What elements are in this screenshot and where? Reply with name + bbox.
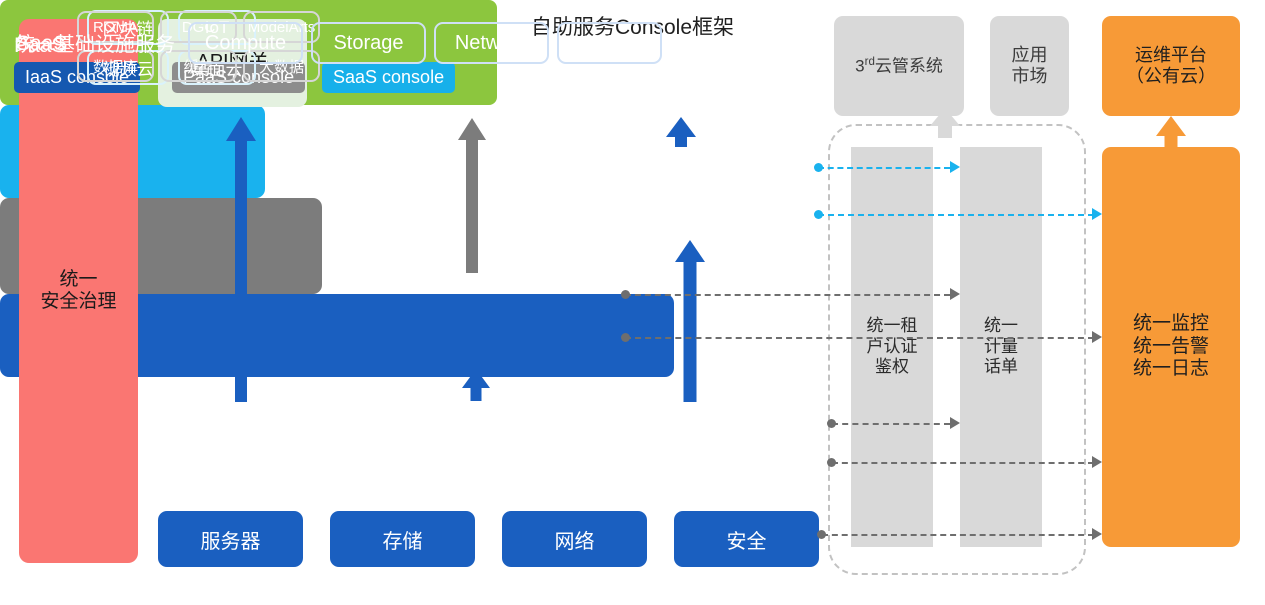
resource-box-server: 服务器 <box>158 511 303 567</box>
dashed-cap-resources <box>817 530 826 539</box>
dashed-cap-saas-2 <box>814 210 823 219</box>
ops-platform-public-cloud-box: 运维平台 （公有云） <box>1102 16 1240 116</box>
dashed-cap-infra-1 <box>827 419 836 428</box>
arrow-paas-to-console <box>458 118 486 273</box>
unified-security-governance-panel: 统一 安全治理 <box>19 19 138 563</box>
unified-tenant-auth-column: 统一租 户认证 鉴权 <box>851 147 933 547</box>
arrow-ops-panel-to-ops-platform <box>1156 116 1186 149</box>
saas-console-chip[interactable]: SaaS console <box>322 62 455 93</box>
resource-box-storage: 存储 <box>330 511 475 567</box>
dashed-arrowhead-paas-2 <box>1092 331 1105 343</box>
third-party-suffix: 云管系统 <box>875 56 943 75</box>
arrow-infra-to-api-gateway <box>226 117 256 402</box>
arrow-saas-to-console <box>666 117 696 147</box>
dashed-saas-to-auth <box>818 167 950 169</box>
dashed-resources-to-ops <box>822 534 1094 536</box>
third-party-prefix: 3 <box>855 56 864 75</box>
dashed-cap-paas-1 <box>621 290 630 299</box>
dashed-cap-infra-2 <box>827 458 836 467</box>
unified-monitoring-alarm-log-panel: 统一监控 统一告警 统一日志 <box>1102 147 1240 547</box>
infra-chip-compute[interactable]: Compute <box>188 22 303 64</box>
infra-chip-storage[interactable]: Storage <box>311 22 426 64</box>
dashed-infra-to-ops <box>832 462 1094 464</box>
infra-chip-cce[interactable]: CCE <box>557 22 662 64</box>
arrow-infra-to-saas <box>675 240 705 402</box>
dashed-infra-to-auth <box>832 423 950 425</box>
architecture-diagram: 统一 安全治理 API网关 自助服务Console框架 IaaS console… <box>0 0 1265 605</box>
dashed-arrowhead-saas-2 <box>1092 208 1105 220</box>
resource-box-network: 网络 <box>502 511 647 567</box>
unified-infrastructure-service-label: 统一基础设施服务 <box>15 28 175 57</box>
dashed-paas-to-auth <box>625 294 950 296</box>
dashed-paas-to-ops <box>625 337 1094 339</box>
third-party-cloud-management-box: 3rd云管系统 <box>834 16 964 116</box>
dashed-arrowhead-infra-2 <box>1092 456 1105 468</box>
unified-metering-billing-column: 统一 计量 话单 <box>960 147 1042 547</box>
infra-chip-network[interactable]: Network <box>434 22 549 64</box>
dashed-cap-saas-1 <box>814 163 823 172</box>
dashed-arrowhead-resources <box>1092 528 1105 540</box>
third-party-label: 3rd云管系统 <box>855 56 943 77</box>
dashed-cap-paas-2 <box>621 333 630 342</box>
dashed-arrowhead-saas-1 <box>950 161 963 173</box>
third-party-superscript: rd <box>865 56 875 68</box>
dashed-saas-to-ops <box>818 214 1094 216</box>
app-market-box: 应用 市场 <box>990 16 1069 116</box>
dashed-arrowhead-infra-1 <box>950 417 963 429</box>
dashed-arrowhead-paas-1 <box>950 288 963 300</box>
arrow-infra-to-paas <box>462 369 490 401</box>
resource-box-security: 安全 <box>674 511 819 567</box>
arrow-shared-to-third-party <box>930 108 960 138</box>
